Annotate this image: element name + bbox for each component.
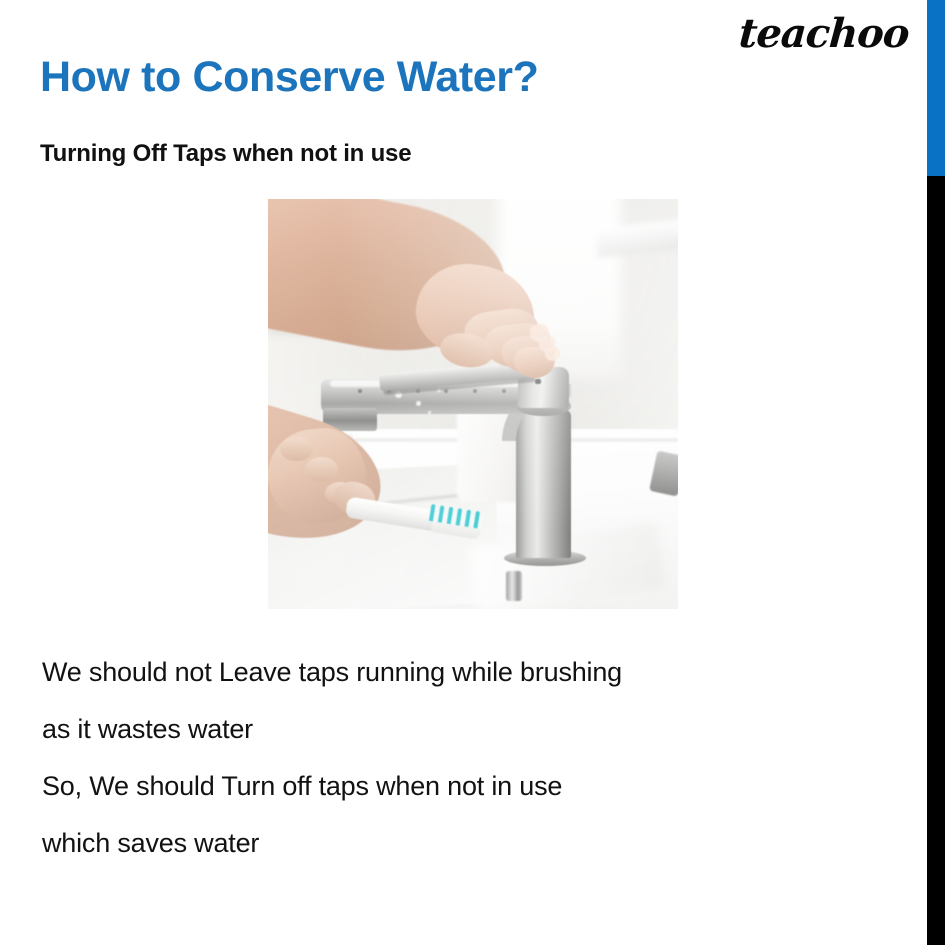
- lower-knuckle-2: [305, 457, 338, 482]
- faucet-lever-screw: [535, 379, 541, 384]
- right-edge-black-bar: [927, 176, 945, 945]
- body-line: So, We should Turn off taps when not in …: [42, 758, 802, 815]
- body-line: which saves water: [42, 815, 802, 872]
- slide-canvas: teachoo How to Conserve Water? Turning O…: [0, 0, 945, 945]
- drain-icon: [506, 571, 522, 601]
- body-line: as it wastes water: [42, 701, 802, 758]
- body-text-block: We should not Leave taps running while b…: [42, 644, 802, 872]
- teachoo-logo: teachoo: [738, 14, 910, 54]
- right-edge-blue-bar: [927, 0, 945, 176]
- page-subtitle: Turning Off Taps when not in use: [40, 141, 411, 167]
- photo-stage: [268, 199, 678, 609]
- tap-photo: [268, 199, 678, 609]
- body-line: We should not Leave taps running while b…: [42, 644, 802, 701]
- page-title: How to Conserve Water?: [40, 55, 539, 100]
